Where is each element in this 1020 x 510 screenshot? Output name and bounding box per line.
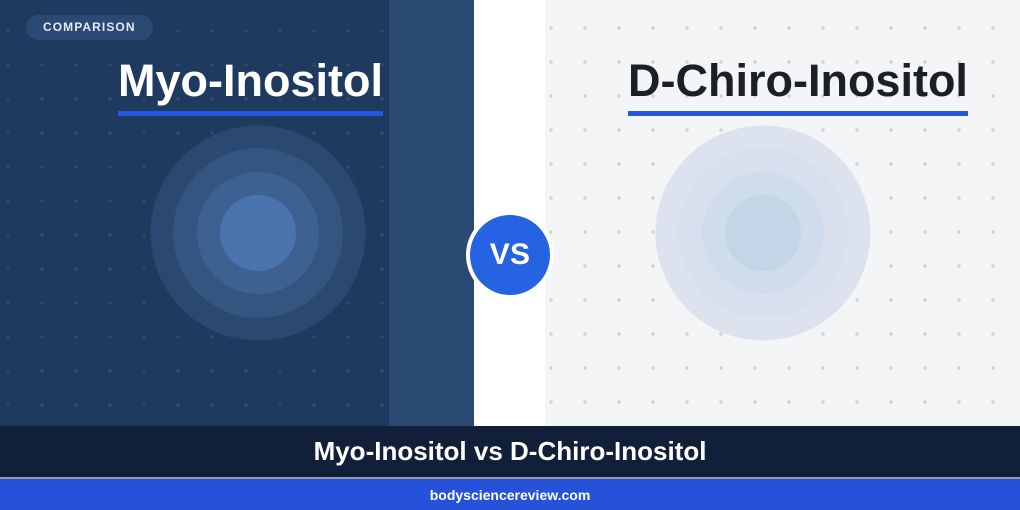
ring-inner — [220, 195, 296, 271]
versus-badge: VS — [466, 211, 554, 299]
right-product-title: D-Chiro-Inositol — [628, 58, 968, 116]
comparison-badge: COMPARISON — [26, 15, 153, 40]
left-concentric-circles-icon — [150, 125, 365, 340]
ring-inner — [725, 195, 801, 271]
left-panel-accent-strip — [389, 0, 474, 426]
left-product-title-text: Myo-Inositol — [118, 55, 383, 106]
right-title-underline — [628, 111, 968, 116]
footer-title: Myo-Inositol vs D-Chiro-Inositol — [314, 436, 707, 467]
left-panel: COMPARISON Myo-Inositol — [0, 0, 389, 426]
left-product-title: Myo-Inositol — [118, 58, 383, 116]
versus-label: VS — [490, 238, 531, 272]
left-title-underline — [118, 111, 383, 116]
comparison-graphic: COMPARISON Myo-Inositol D-Chiro-Inositol… — [0, 0, 1020, 510]
right-concentric-circles-icon — [655, 125, 870, 340]
footer-url-bar: bodysciencereview.com — [0, 479, 1020, 510]
right-product-title-text: D-Chiro-Inositol — [628, 55, 968, 106]
footer-url: bodysciencereview.com — [430, 487, 591, 503]
footer-title-bar: Myo-Inositol vs D-Chiro-Inositol — [0, 426, 1020, 479]
